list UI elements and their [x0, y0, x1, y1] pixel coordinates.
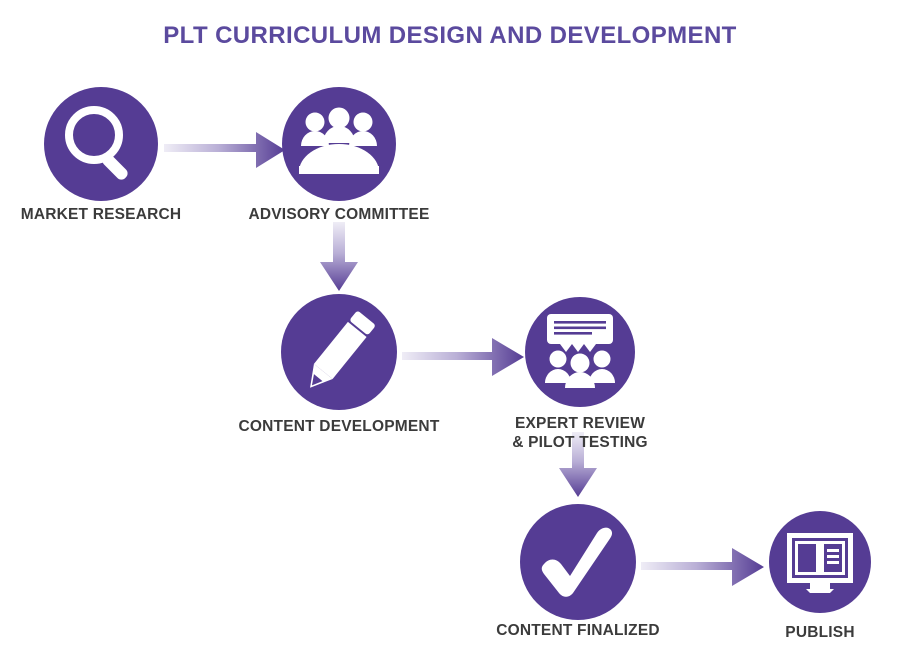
arrow-market-to-advisory — [164, 132, 285, 168]
node-circle — [525, 297, 635, 407]
node-expert-review[interactable] — [525, 297, 635, 407]
node-circle — [44, 87, 158, 201]
node-circle — [520, 504, 636, 620]
process-flow-diagram: PLT CURRICULUM DESIGN AND DEVELOPMENT — [0, 0, 900, 665]
node-market-research[interactable] — [44, 87, 158, 201]
node-content-finalized[interactable] — [520, 504, 636, 620]
label-content-development: CONTENT DEVELOPMENT — [199, 417, 479, 436]
people-group-icon — [299, 108, 379, 175]
label-market-research: MARKET RESEARCH — [0, 205, 221, 224]
arrow-finalized-to-publish — [641, 548, 764, 586]
node-publish[interactable] — [769, 511, 871, 613]
label-publish: PUBLISH — [740, 623, 900, 642]
arrow-content-to-expert — [402, 338, 524, 376]
label-content-finalized: CONTENT FINALIZED — [448, 621, 708, 640]
node-advisory-committee[interactable] — [282, 87, 396, 201]
arrow-advisory-to-content — [320, 222, 358, 291]
label-advisory-committee: ADVISORY COMMITTEE — [209, 205, 469, 224]
label-expert-review: EXPERT REVIEW & PILOT TESTING — [460, 414, 700, 453]
flow-graphic — [0, 0, 900, 665]
node-content-development[interactable] — [281, 294, 397, 410]
